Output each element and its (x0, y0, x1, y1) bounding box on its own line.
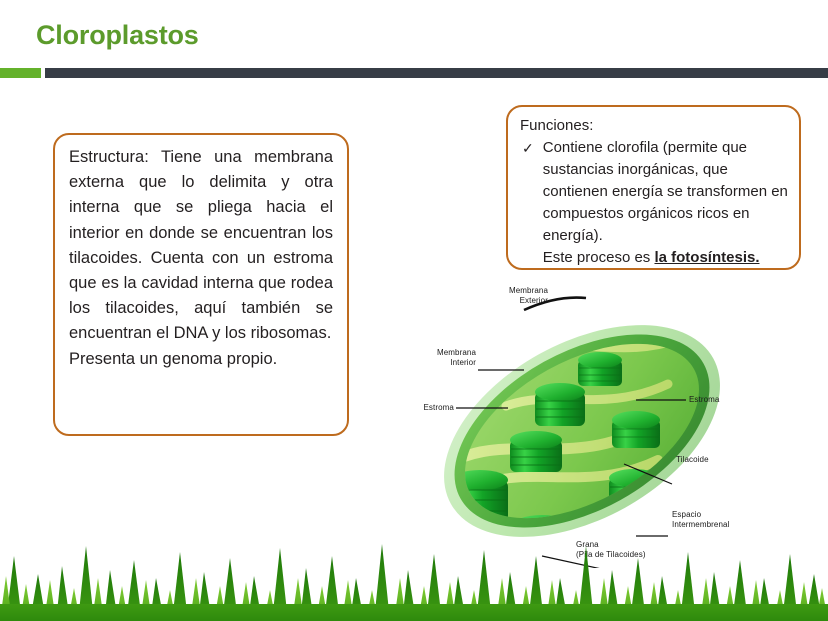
list-item: ✓ Contiene clorofila (permite que sustan… (522, 137, 789, 269)
page-title: Cloroplastos (36, 20, 199, 51)
funciones-closing-emphasis: la fotosíntesis. (654, 249, 759, 266)
label-line-1: Espacio (672, 510, 701, 519)
label-line-2: Interior (450, 358, 476, 367)
funciones-callout: Funciones: ✓ Contiene clorofila (permite… (506, 105, 801, 270)
grass-footer-decoration (0, 526, 828, 621)
label-line-1: Estroma (689, 395, 720, 404)
grana-stack (510, 431, 562, 472)
grana-stack (578, 352, 622, 386)
label-estroma-izquierda: Estroma (400, 403, 454, 413)
label-membrana-interior: Membrana Interior (418, 348, 476, 367)
grana-stack (612, 411, 660, 448)
grass-graphic (0, 526, 828, 621)
estructura-paragraph-2: Presenta un genoma propio. (69, 347, 333, 372)
label-tilacoide: Tilacoide (676, 455, 709, 465)
grass-base (0, 604, 828, 621)
label-line-1: Tilacoide (676, 455, 709, 464)
check-icon: ✓ (522, 137, 534, 159)
label-line-2: Exterior (520, 296, 548, 305)
slide-canvas: Cloroplastos Estructura: Tiene una membr… (0, 0, 828, 621)
funciones-heading: Funciones: (520, 115, 789, 137)
label-line-1: Membrana (509, 286, 548, 295)
label-membrana-exterior: Membrana Exterior (478, 286, 548, 305)
grana-stack (535, 383, 585, 426)
divider-bar-dark (45, 68, 828, 78)
funciones-item-text: Contiene clorofila (permite que sustanci… (543, 137, 789, 269)
estructura-callout: Estructura: Tiene una membrana externa q… (53, 133, 349, 436)
label-line-1: Estroma (424, 403, 455, 412)
funciones-item-body: Contiene clorofila (permite que sustanci… (543, 139, 788, 244)
accent-bar-green (0, 68, 41, 78)
label-estroma-derecha: Estroma (689, 395, 720, 405)
label-line-1: Membrana (437, 348, 476, 357)
funciones-closing-prefix: Este proceso es (543, 249, 655, 266)
estructura-paragraph-1: Estructura: Tiene una membrana externa q… (69, 145, 333, 347)
